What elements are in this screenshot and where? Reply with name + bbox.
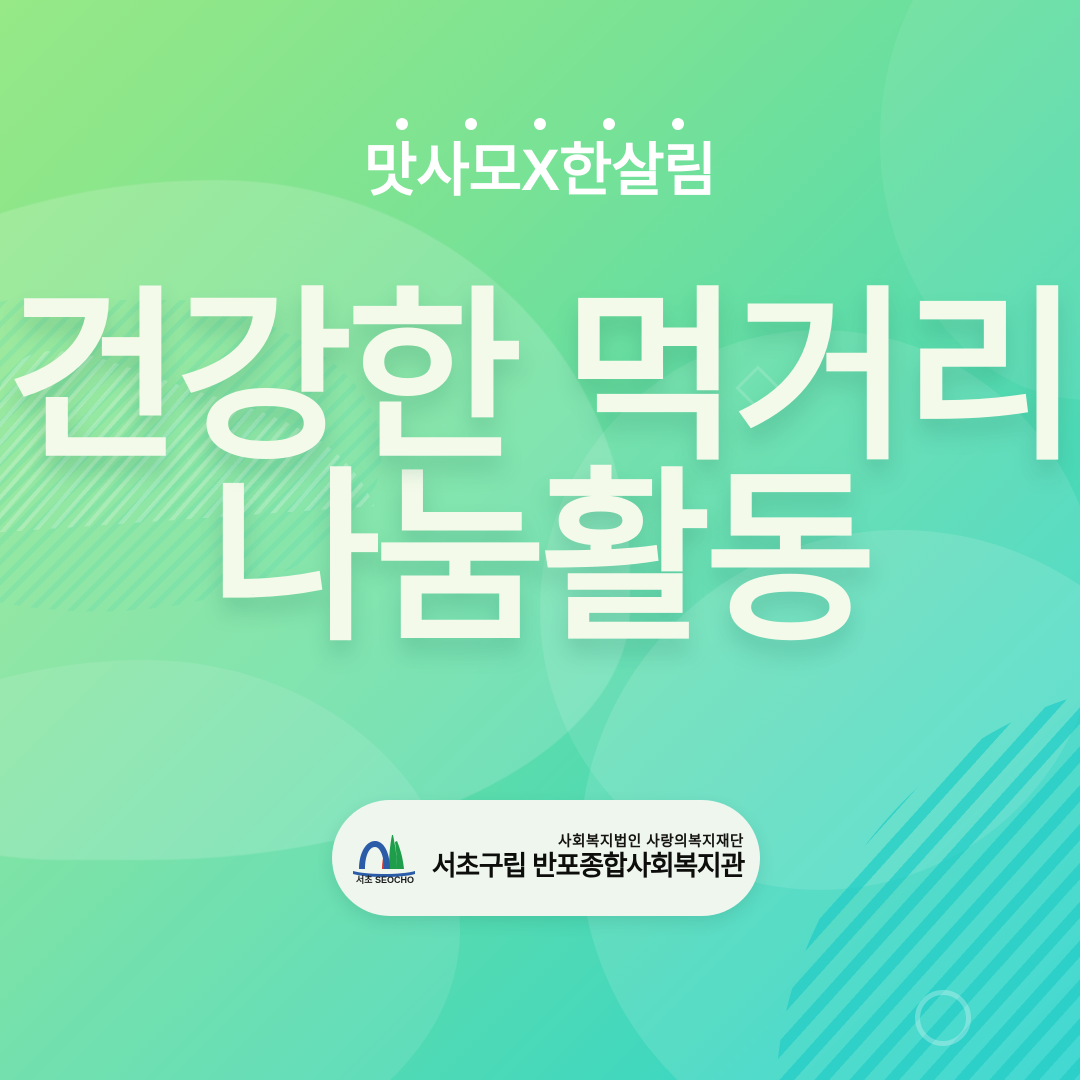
poster-title: 건강한 먹거리 나눔활동 (0, 292, 1080, 648)
circle-outline-icon (915, 990, 971, 1046)
background-stripes-right (700, 680, 1080, 1080)
svg-text:서초 SEOCHO: 서초 SEOCHO (356, 874, 414, 885)
poster-canvas: 맛사모X한살림 건강한 먹거리 나눔활동 서초 SEOCHO 사회복지법인 사랑… (0, 0, 1080, 1080)
dot (603, 118, 615, 130)
organization-badge: 서초 SEOCHO 사회복지법인 사랑의복지재단 서초구립 반포종합사회복지관 (332, 800, 760, 916)
badge-text-block: 사회복지법인 사랑의복지재단 서초구립 반포종합사회복지관 (422, 835, 748, 882)
poster-subtitle: 맛사모X한살림 (0, 138, 1080, 205)
poster-title-line-1: 건강한 먹거리 (0, 292, 1080, 467)
dot (672, 118, 684, 130)
badge-center-name: 서초구립 반포종합사회복지관 (432, 852, 744, 882)
decorative-dot-row (0, 118, 1080, 130)
dot (534, 118, 546, 130)
dot (465, 118, 477, 130)
seocho-gu-logo: 서초 SEOCHO (348, 831, 422, 885)
poster-title-line-2: 나눔활동 (0, 473, 1080, 648)
dot (396, 118, 408, 130)
badge-organization-line: 사회복지법인 사랑의복지재단 (558, 835, 744, 851)
